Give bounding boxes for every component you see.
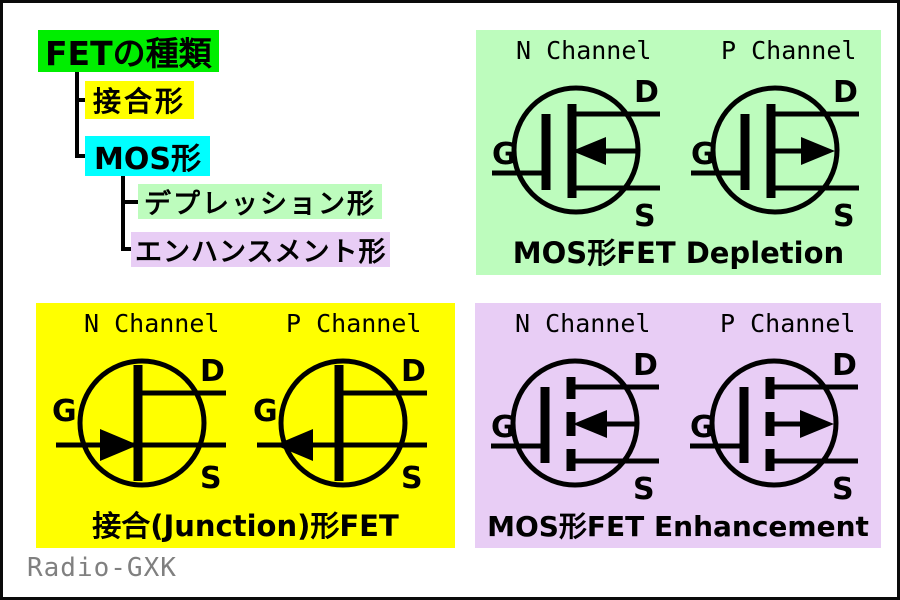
panel-mos-enhancement-caption: MOS形FET Enhancement xyxy=(475,505,881,545)
fet-classification-tree: FETの種類 接合形 MOS形 デプレッション形 エンハンスメント形 xyxy=(3,3,473,293)
tree-node-mos: MOS形 xyxy=(85,136,210,176)
arrow-head-right-icon xyxy=(801,137,835,165)
terminal-label-gate: G xyxy=(690,410,715,445)
symbol-mosfet-depletion-p-channel: G D S xyxy=(683,68,878,233)
terminal-label-gate: G xyxy=(691,137,716,172)
terminal-label-gate: G xyxy=(492,137,517,172)
panel-mos-enhancement: N Channel P Channel G D xyxy=(475,303,881,548)
terminal-label-gate: G xyxy=(253,394,278,429)
credit-watermark: Radio-GXK xyxy=(27,553,177,583)
fet-types-figure: FETの種類 接合形 MOS形 デプレッション形 エンハンスメント形 N Cha… xyxy=(0,0,900,600)
terminal-label-drain: D xyxy=(200,354,225,389)
terminal-label-source: S xyxy=(401,461,423,496)
arrow-head-right-icon xyxy=(800,410,834,438)
tree-node-junction: 接合形 xyxy=(85,81,194,119)
panel-junction-heading-p: P Channel xyxy=(286,309,421,338)
symbol-jfet-p-channel: G D S xyxy=(251,341,446,506)
terminal-label-drain: D xyxy=(633,348,658,383)
tree-node-junction-label: 接合形 xyxy=(93,80,186,120)
terminal-label-source: S xyxy=(832,472,854,506)
panel-mos-enhancement-heading-n: N Channel xyxy=(515,309,650,338)
terminal-label-source: S xyxy=(634,199,656,233)
tree-node-mos-label: MOS形 xyxy=(94,134,201,178)
terminal-label-drain: D xyxy=(401,354,426,389)
symbol-mosfet-depletion-n-channel: G D S xyxy=(484,68,679,233)
tree-connector-vertical-top xyxy=(75,72,79,158)
terminal-label-drain: D xyxy=(634,75,659,110)
panel-mos-enhancement-heading-p: P Channel xyxy=(720,309,855,338)
tree-node-enhancement-label: エンハンスメント形 xyxy=(135,230,386,269)
tree-node-root: FETの種類 xyxy=(38,30,219,72)
terminal-label-source: S xyxy=(633,472,655,506)
tree-node-enhancement: エンハンスメント形 xyxy=(131,232,390,267)
panel-mos-depletion-heading-n: N Channel xyxy=(516,36,651,65)
panel-junction-caption: 接合(Junction)形FET xyxy=(36,503,455,545)
symbol-jfet-n-channel: G D S xyxy=(50,341,245,506)
arrow-head-left-icon xyxy=(572,137,606,165)
tree-node-root-label: FETの種類 xyxy=(45,27,212,75)
panel-mos-depletion-caption: MOS形FET Depletion xyxy=(476,230,881,272)
terminal-label-drain: D xyxy=(833,75,858,110)
terminal-label-source: S xyxy=(200,461,222,496)
symbol-mosfet-enhancement-n-channel: G D S xyxy=(483,341,678,506)
panel-mos-depletion: N Channel P Channel xyxy=(476,30,881,275)
panel-mos-depletion-heading-p: P Channel xyxy=(721,36,856,65)
tree-node-depletion: デプレッション形 xyxy=(138,184,382,219)
tree-node-depletion-label: デプレッション形 xyxy=(144,182,376,221)
tree-connector-vertical-bottom xyxy=(121,176,125,251)
terminal-label-drain: D xyxy=(832,348,857,383)
terminal-label-source: S xyxy=(833,199,855,233)
symbol-mosfet-enhancement-p-channel: G D S xyxy=(682,341,877,506)
panel-junction-fet: N Channel P Channel G D S xyxy=(36,303,455,548)
panel-junction-heading-n: N Channel xyxy=(84,309,219,338)
terminal-label-gate: G xyxy=(491,410,516,445)
terminal-label-gate: G xyxy=(52,394,77,429)
arrow-head-left-icon xyxy=(573,410,607,438)
arrow-head-right-icon xyxy=(100,429,138,461)
